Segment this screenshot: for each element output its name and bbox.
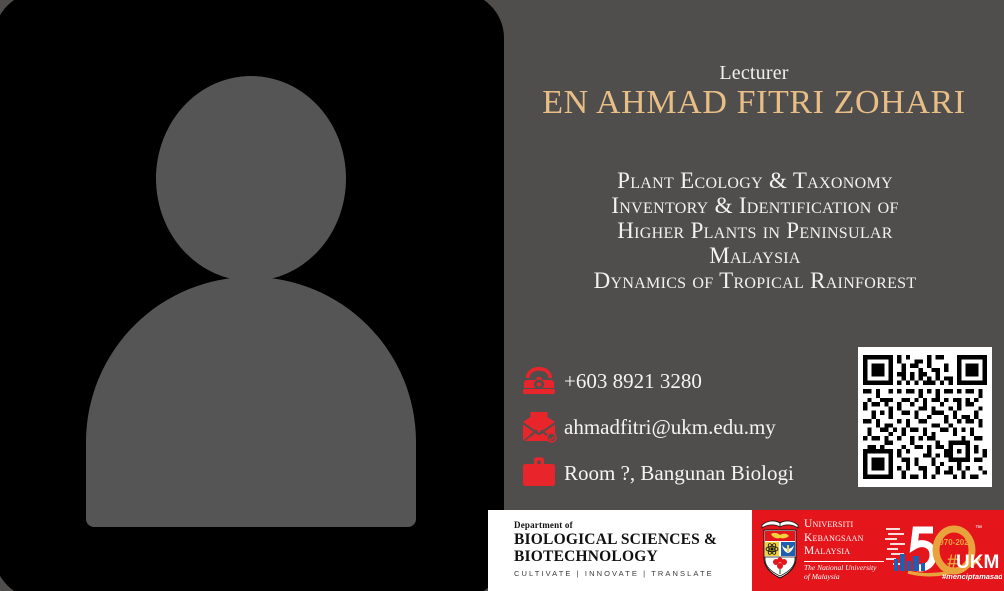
department-prefix: Department of — [514, 520, 717, 531]
department-tagline: CULTIVATE | INNOVATE | TRANSLATE — [514, 569, 717, 578]
profile-content: Lecturer EN AHMAD FITRI ZOHARI Plant Eco… — [504, 0, 1004, 591]
trademark-symbol: ™ — [975, 525, 982, 532]
ukm-subtitle-line-2: of Malaysia — [804, 572, 886, 581]
ukm-hashtag-label: UKM — [956, 552, 999, 573]
department-banner: Department of BIOLOGICAL SCIENCES & BIOT… — [488, 510, 752, 591]
anniversary-years: 1970-2020 — [935, 538, 974, 547]
expertise-line: Malaysia — [512, 243, 998, 268]
contact-row-office[interactable]: Room ?, Bangunan Biologi — [518, 450, 858, 496]
expertise-line: Higher Plants in Peninsular — [512, 218, 998, 243]
ukm-subtitle-line-1: The National University — [804, 563, 886, 572]
avatar — [0, 0, 504, 591]
ukm-name-line-3: Malaysia — [804, 545, 886, 559]
avatar-head-shape — [156, 76, 346, 281]
telephone-icon — [518, 364, 560, 398]
ukm-banner: Universiti Kebangsaan Malaysia The Natio… — [752, 510, 1004, 591]
expertise-list: Plant Ecology & Taxonomy Inventory & Ide… — [512, 168, 998, 293]
ukm-crest-icon — [758, 514, 802, 586]
ukm-name-line-1: Universiti — [804, 518, 886, 532]
contact-list: +603 8921 3280 — [518, 358, 858, 496]
ukm-name-line-2: Kebangsaan — [804, 532, 886, 546]
office-location: Room ?, Bangunan Biologi — [560, 461, 794, 486]
lecturer-profile-card: Lecturer EN AHMAD FITRI ZOHARI Plant Eco… — [0, 0, 1004, 591]
contact-row-phone[interactable]: +603 8921 3280 — [518, 358, 858, 404]
qr-code-pattern — [863, 352, 987, 482]
department-name-line-1: BIOLOGICAL SCIENCES & — [514, 531, 717, 548]
briefcase-icon — [518, 456, 560, 490]
department-logo-text: Department of BIOLOGICAL SCIENCES & BIOT… — [514, 520, 717, 578]
profile-photo-panel — [0, 0, 504, 591]
email-icon — [518, 410, 560, 444]
ukm-wordmark: Universiti Kebangsaan Malaysia The Natio… — [804, 518, 886, 581]
ukm-divider — [804, 561, 884, 562]
email-address: ahmadfitri@ukm.edu.my — [560, 415, 776, 440]
phone-number: +603 8921 3280 — [560, 369, 702, 394]
qr-code[interactable] — [858, 347, 992, 487]
expertise-line: Inventory & Identification of — [512, 193, 998, 218]
department-name-line-2: BIOTECHNOLOGY — [514, 548, 717, 565]
expertise-line: Dynamics of Tropical Rainforest — [512, 268, 998, 293]
page-title: EN AHMAD FITRI ZOHARI — [504, 84, 1004, 122]
expertise-line: Plant Ecology & Taxonomy — [512, 168, 998, 193]
ukm-slogan: #menciptamasadepan — [942, 572, 1002, 581]
avatar-body-shape — [86, 277, 416, 527]
ukm-50th-anniversary-logo: 1970-2020 ™ # UKM #menciptamasadepan — [884, 514, 1002, 588]
contact-row-email[interactable]: ahmadfitri@ukm.edu.my — [518, 404, 858, 450]
role-label: Lecturer — [504, 62, 1004, 85]
